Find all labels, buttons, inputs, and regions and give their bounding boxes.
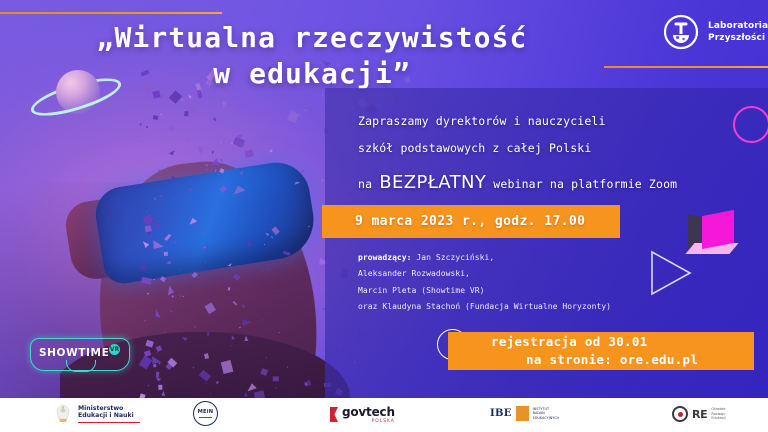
laboratoria-logo-text: Laboratoria Przyszłości: [708, 20, 768, 44]
mein-logo: MEiN: [193, 401, 218, 426]
govtech-logo: govtech POLSKA: [330, 405, 395, 424]
showtime-vr-badge: VR: [109, 344, 120, 355]
cube-front-face: [702, 210, 734, 249]
men-line-2: Edukacji i Nauki: [78, 412, 140, 420]
laboratoria-logo-mark: [662, 13, 700, 51]
ibe-subtext: INSTYTUT BADAŃ EDUKACYJNYCH: [533, 407, 559, 421]
poster-title: „Wirtualna rzeczywistość w edukacji”: [62, 20, 562, 92]
ore-wordmark: RE: [692, 408, 707, 421]
invitation-line-3-pre: na: [358, 177, 379, 191]
accent-rule-top-right: [604, 66, 768, 68]
govtech-mark-icon: [330, 407, 338, 422]
poster-title-line-1: „Wirtualna rzeczywistość: [62, 20, 562, 56]
govtech-text-group: govtech POLSKA: [342, 405, 395, 424]
ibe-wordmark: IBE: [490, 408, 512, 419]
invitation-line-3: na BEZPŁATNY webinar na platformie Zoom: [358, 162, 750, 204]
hosts-line-4: oraz Klaudyna Stachoń (Fundacja Wirtualn…: [358, 299, 698, 315]
ibe-logo: IBE INSTYTUT BADAŃ EDUKACYJNYCH: [490, 406, 559, 421]
registration-line-1: rejestracja od 30.01: [448, 333, 754, 351]
ore-subtext: Ośrodek Rozwoju Edukacji: [711, 407, 725, 422]
ore-sub-line-1: Ośrodek: [711, 407, 725, 412]
men-ministry-text: Ministerstwo Edukacji i Nauki: [78, 405, 140, 424]
footer-logo-strip: Ministerstwo Edukacji i Nauki MEiN govte…: [0, 398, 768, 432]
hosts-list: prowadzący: Jan Szczyciński, Aleksander …: [358, 250, 698, 316]
men-ministry-logo: Ministerstwo Edukacji i Nauki: [52, 403, 140, 425]
govtech-wordmark: govtech: [342, 405, 395, 419]
men-line-1: Ministerstwo: [78, 405, 140, 413]
mein-red-rule: [199, 417, 212, 418]
registration-banner[interactable]: rejestracja od 30.01 na stronie: ore.edu…: [448, 332, 754, 370]
invitation-line-1: Zapraszamy dyrektorów i nauczycieli: [358, 108, 750, 135]
laboratoria-logo-line-1: Laboratoria: [708, 20, 768, 32]
ore-logo: RE Ośrodek Rozwoju Edukacji: [672, 406, 726, 422]
hosts-line-2: Aleksander Rozwadowski,: [358, 266, 698, 282]
poster-root: SHOWTIME VR „Wirtualna rzeczywistość w e…: [0, 0, 768, 432]
hosts-label: prowadzący:: [358, 253, 412, 262]
free-webinar-emphasis: BEZPŁATNY: [379, 172, 486, 193]
mein-logo-circle: MEiN: [193, 401, 218, 426]
men-red-rule: [78, 422, 140, 423]
registration-line-2: na stronie: ore.edu.pl: [448, 351, 754, 369]
govtech-subtext: POLSKA: [342, 419, 395, 424]
showtime-logo-text: SHOWTIME: [39, 347, 109, 359]
showtime-vr-logo: SHOWTIME VR: [30, 338, 130, 371]
polish-eagle-icon: [52, 403, 74, 425]
showtime-logo-notch: [66, 360, 96, 372]
mein-logo-text: MEiN: [198, 409, 214, 415]
ore-sub-line-3: Edukacji: [711, 416, 725, 421]
ore-mark-icon: [672, 406, 688, 422]
invitation-line-2: szkół podstawowych z całej Polski: [358, 135, 750, 162]
hosts-line-1-rest: Jan Szczyciński,: [412, 253, 495, 262]
ibe-mark-icon: [516, 406, 529, 421]
invitation-text: Zapraszamy dyrektorów i nauczycieli szkó…: [358, 108, 750, 204]
hosts-line-3: Marcin Pleta (Showtime VR): [358, 283, 698, 299]
laboratoria-logo-line-2: Przyszłości: [708, 32, 768, 44]
ibe-sub-line-3: EDUKACYJNYCH: [533, 416, 559, 421]
date-banner: 9 marca 2023 r., godz. 17.00: [322, 205, 620, 238]
hosts-line-1: prowadzący: Jan Szczyciński,: [358, 250, 698, 266]
poster-title-line-2: w edukacji”: [62, 56, 562, 92]
accent-rule-top-left: [0, 12, 222, 14]
laboratoria-przyszlosci-logo: Laboratoria Przyszłości: [662, 8, 766, 56]
date-banner-text: 9 marca 2023 r., godz. 17.00: [355, 214, 585, 229]
invitation-line-3-post: webinar na platformie Zoom: [486, 177, 677, 191]
